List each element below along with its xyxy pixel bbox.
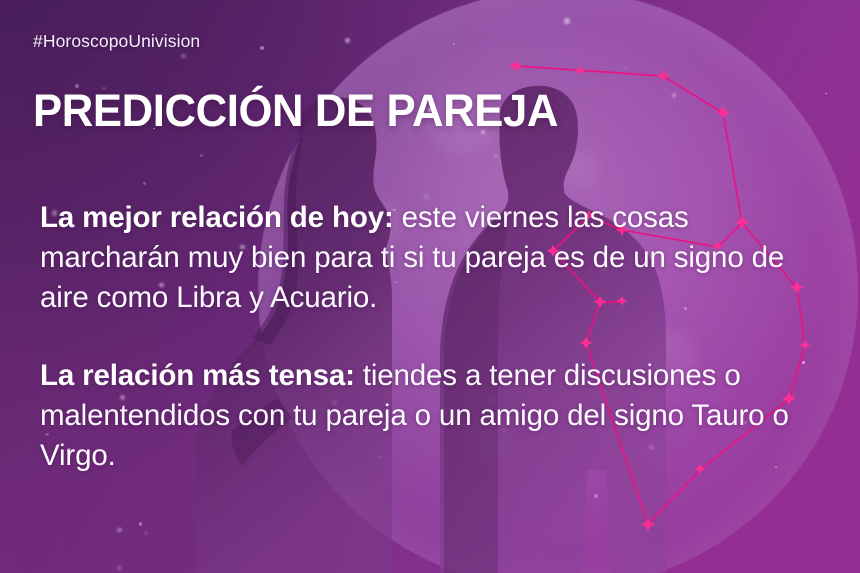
hashtag-label: #HoroscopoUnivision: [33, 31, 200, 52]
prediction-body: La mejor relación de hoy: este viernes l…: [40, 198, 830, 476]
content-layer: #HoroscopoUnivision PREDICCIÓN DE PAREJA…: [0, 0, 860, 573]
page-title: PREDICCIÓN DE PAREJA: [33, 88, 558, 133]
horoscope-card: #HoroscopoUnivision PREDICCIÓN DE PAREJA…: [0, 0, 860, 573]
paragraph-lead-label: La relación más tensa:: [40, 359, 355, 392]
prediction-paragraph: La mejor relación de hoy: este viernes l…: [40, 198, 830, 318]
prediction-paragraph: La relación más tensa: tiendes a tener d…: [40, 356, 830, 476]
paragraph-lead-label: La mejor relación de hoy:: [40, 201, 394, 234]
